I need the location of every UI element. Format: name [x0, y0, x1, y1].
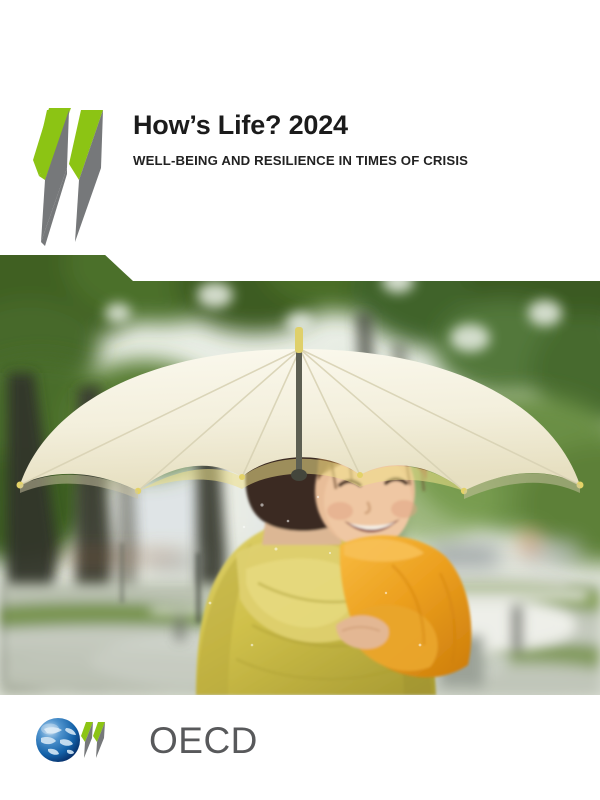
page-subtitle: WELL-BEING AND RESILIENCE IN TIMES OF CR…	[133, 153, 573, 169]
page-title: How’s Life? 2024	[133, 110, 573, 141]
oecd-globe-icon	[34, 716, 146, 764]
oecd-wordmark: OECD	[149, 722, 258, 759]
cover-header: How’s Life? 2024 WELL-BEING AND RESILIEN…	[0, 0, 600, 255]
report-cover: How’s Life? 2024 WELL-BEING AND RESILIEN…	[0, 0, 600, 800]
cover-footer: OECD	[0, 695, 600, 800]
oecd-double-chevron-icon	[33, 108, 105, 248]
title-block: How’s Life? 2024 WELL-BEING AND RESILIEN…	[133, 110, 573, 169]
oecd-chevron-icon	[81, 722, 105, 758]
oecd-globe-logo: OECD	[34, 715, 258, 765]
cover-photograph	[0, 253, 600, 695]
